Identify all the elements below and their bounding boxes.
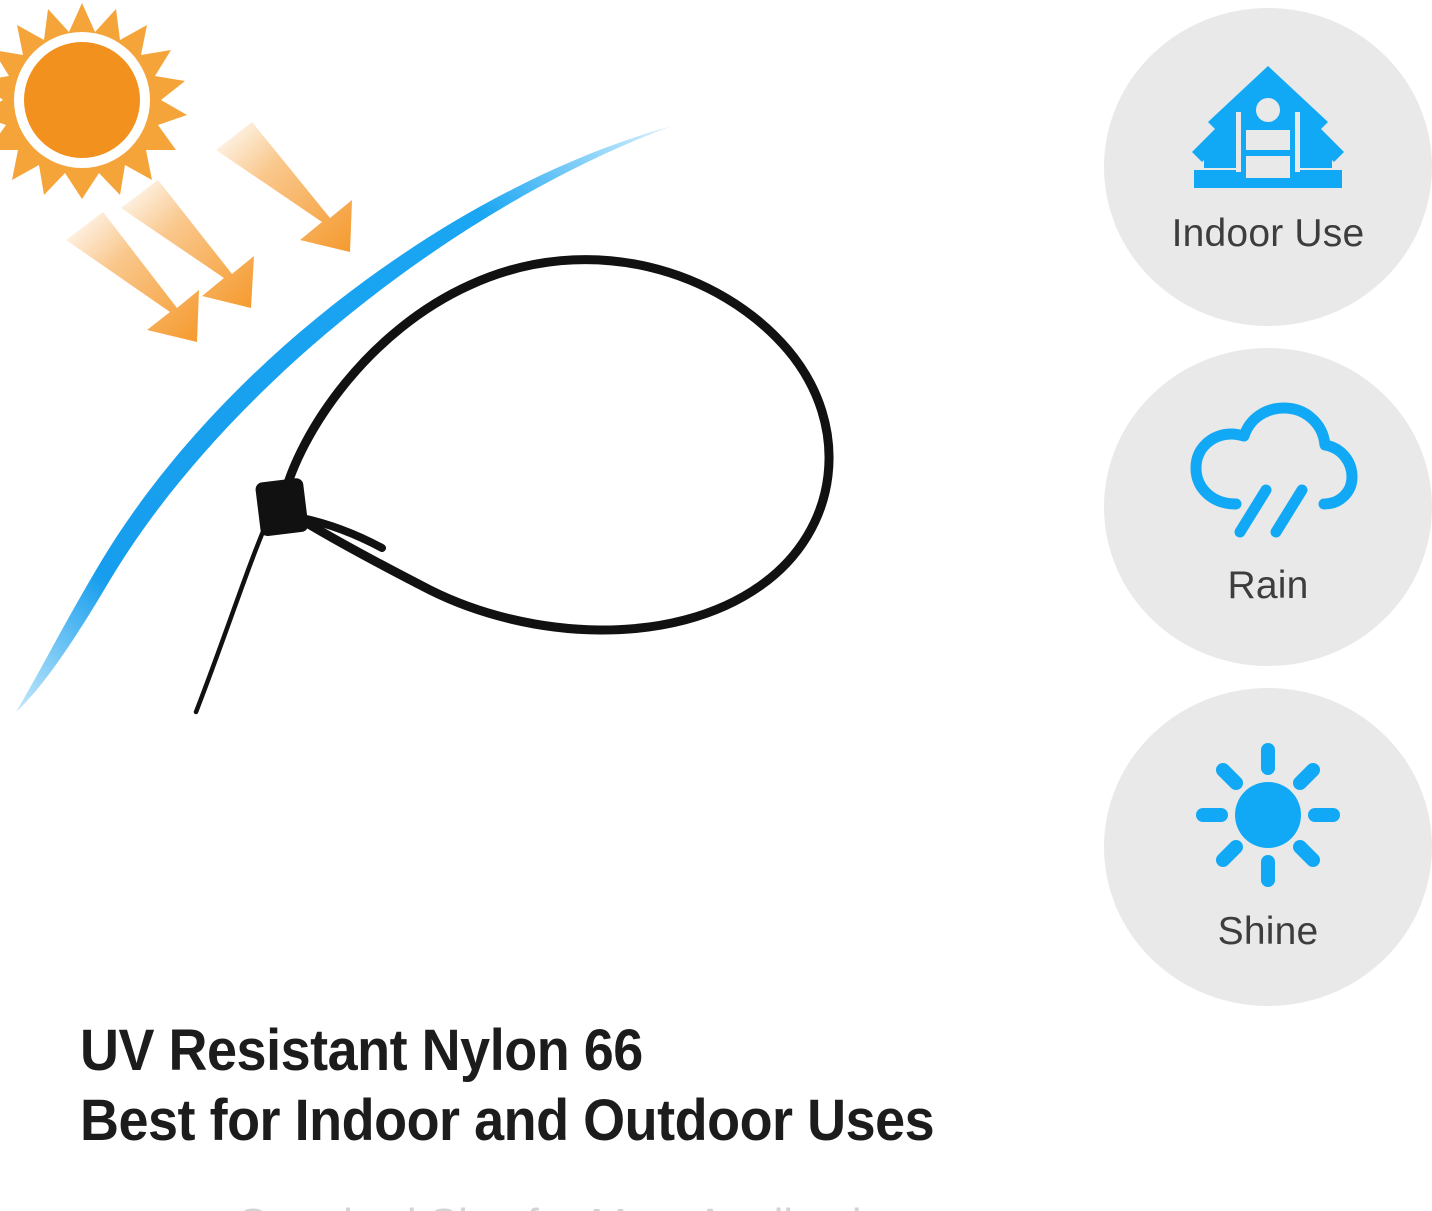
headline-line-1: UV Resistant Nylon 66 xyxy=(80,1016,1010,1086)
house-icon xyxy=(1178,50,1358,200)
badge-rain[interactable]: Rain xyxy=(1104,348,1432,666)
clipped-bottom-text: Standard Size for Most Applications xyxy=(238,1203,1038,1211)
rain-cloud-icon xyxy=(1178,396,1358,546)
cable-tie-icon xyxy=(196,260,829,712)
badge-label-indoor-use: Indoor Use xyxy=(1172,214,1365,253)
sun-disc xyxy=(24,42,140,158)
infographic-page: Indoor Use Rain xyxy=(0,0,1432,1211)
sun-burst-icon xyxy=(0,3,187,199)
sun-shine-icon xyxy=(1178,740,1358,890)
badge-label-shine: Shine xyxy=(1218,912,1319,951)
uv-resistant-cable-tie-illustration xyxy=(0,0,1060,780)
cable-tie-head xyxy=(255,477,309,536)
badge-shine[interactable]: Shine xyxy=(1104,688,1432,1006)
cable-tie-tail xyxy=(196,520,268,712)
badge-indoor-use[interactable]: Indoor Use xyxy=(1104,8,1432,326)
headline-line-2: Best for Indoor and Outdoor Uses xyxy=(80,1086,1010,1156)
uv-ray-arrow-3 xyxy=(216,122,352,252)
clipped-bottom-text-content: Standard Size for Most Applications xyxy=(238,1203,1038,1211)
feature-badge-column: Indoor Use Rain xyxy=(1104,8,1432,1008)
cable-tie-loop xyxy=(283,260,829,630)
shine-disc xyxy=(1235,782,1301,848)
headline-block: UV Resistant Nylon 66 Best for Indoor an… xyxy=(80,1016,1080,1156)
badge-label-rain: Rain xyxy=(1227,566,1308,605)
